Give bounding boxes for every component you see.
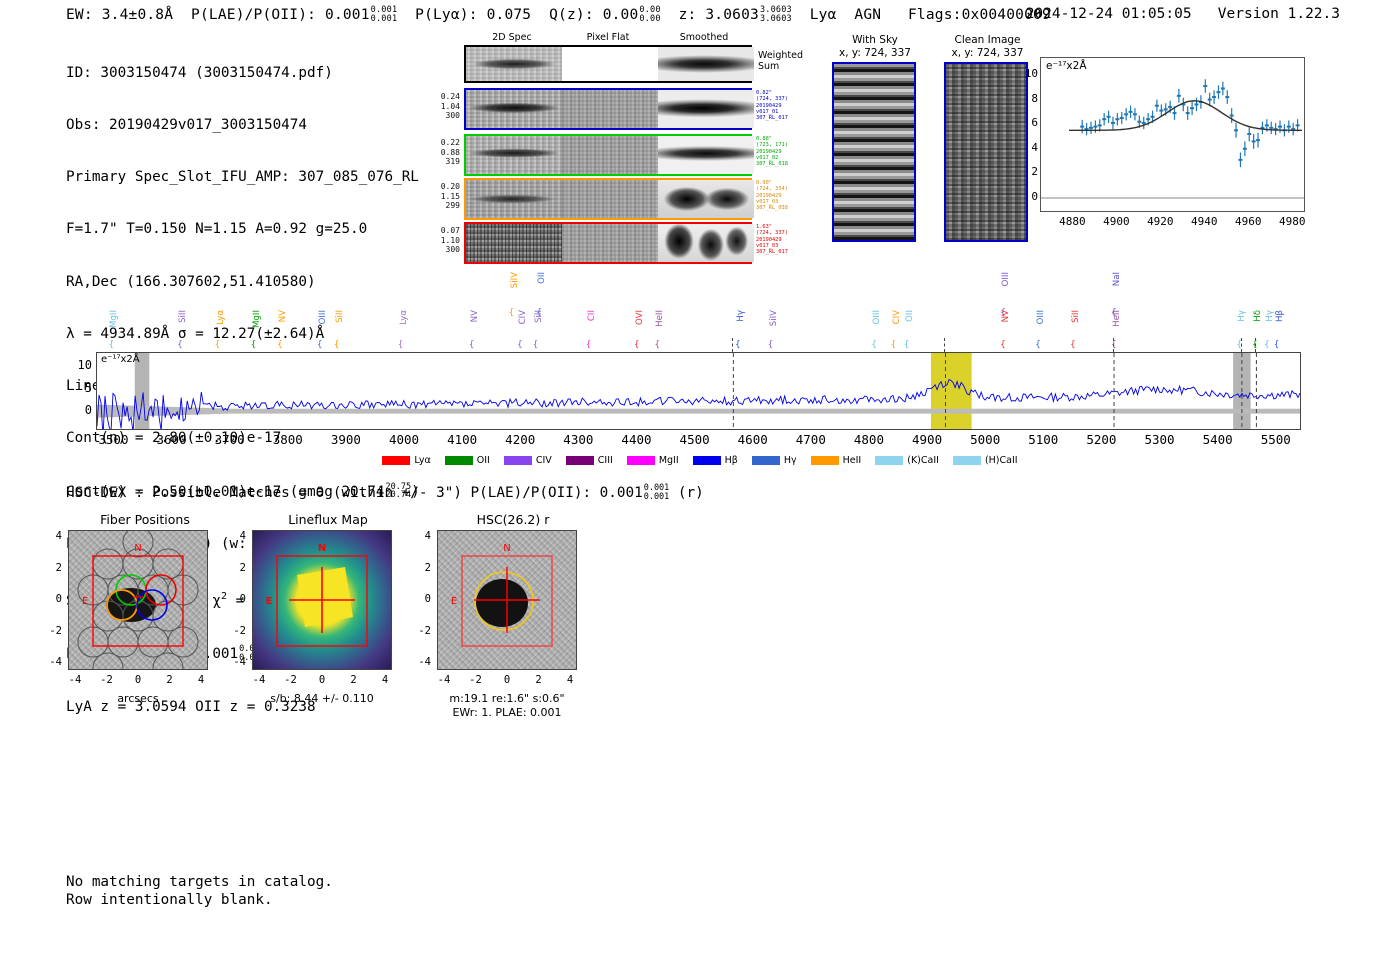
full-spectrum-plot[interactable]: e⁻¹⁷x2Å — [96, 352, 1301, 430]
fiber-row-1-amp: 307_RL_017 — [756, 115, 812, 121]
spectrum-x-tick: 4500 — [680, 432, 710, 447]
fiber-positions-title: Fiber Positions — [60, 512, 230, 527]
legend-swatch-Lyα — [382, 456, 410, 465]
legend-label-HeII: HeII — [843, 455, 862, 466]
spectrum-lower-brace-SiII: { — [177, 340, 183, 350]
spectrum-upper-label-OII: OII — [538, 272, 547, 284]
clean-image-coords: x, y: 724, 337 — [930, 47, 1045, 60]
spectrum-lower-brace-Hβ: { — [1274, 340, 1280, 350]
header-z-label: z: 3.0603 — [679, 7, 759, 23]
header-plae-label: P(LAE)/P(OII): — [191, 7, 316, 23]
fit-y-tick: 6 — [1016, 116, 1038, 129]
fiber-row-4-right-labels: 1.63" (724, 337) 20190429 v017_03 307_RL… — [756, 224, 812, 255]
spectrum-x-tick: 3500 — [98, 432, 128, 447]
fiber-row-1-pixel-flat-image — [562, 90, 658, 128]
lineflux-compass-north: N — [318, 543, 326, 554]
legend-label-OII: OII — [477, 455, 490, 466]
spectrum-lower-label-Lyα: Lyα — [217, 310, 226, 325]
spectrum-lower-brace-MgII: { — [108, 340, 114, 350]
legend-item-CIV: CIV — [504, 455, 552, 466]
fiber-row-2-right-labels: 0.88" (723, 171) 20190429 v017_02 307_RL… — [756, 136, 812, 167]
fiber-row-3-amp: 307_RL_038 — [756, 205, 812, 211]
spectrum-lower-label-NV: NV — [1002, 310, 1011, 322]
spectrum-lower-label-SiII: SiII — [1072, 310, 1081, 323]
fiber-row-1-dist: 1.04 — [420, 102, 460, 112]
fiber-row-4-left-labels: 0.07 1.10 300 — [420, 226, 460, 255]
legend-item-(H)CaII: (H)CaII — [953, 455, 1018, 466]
fiber-row-1-index: 300 — [420, 111, 460, 121]
header-meta: 2024-12-24 01:05:05 Version 1.22.3 — [1026, 6, 1340, 22]
spectrum-x-tick: 3600 — [156, 432, 186, 447]
fiber-row-1-right-labels: 0.82" (724, 337) 20190429 v017_01 307_RL… — [756, 90, 812, 121]
info-observing-conditions: F=1.7" T=0.150 N=1.15 A=0.92 g=25.0 — [66, 221, 420, 238]
spectrum-lower-brace-Lyα: { — [398, 340, 404, 350]
legend-item-HeII: HeII — [811, 455, 862, 466]
legend-swatch-OII — [445, 456, 473, 465]
fiber-row-4-pixel-flat-image — [562, 224, 658, 262]
legend-swatch-(K)CaII — [875, 456, 903, 465]
header-plae-lo: 0.001 — [371, 15, 398, 24]
hsc-r-y-tick: 4 — [411, 530, 431, 542]
fiber-row-4[interactable] — [464, 222, 752, 264]
spectrum-lower-brace-OIII: { — [317, 340, 323, 350]
spectrum-lower-label-OIII: OIII — [319, 310, 328, 324]
legend-label-Lyα: Lyα — [414, 455, 430, 466]
lineflux-map-y-tick: 0 — [226, 593, 246, 605]
with-sky-image[interactable] — [832, 62, 916, 242]
fiber-positions-xlabel: arcsecs — [38, 692, 238, 705]
fiber-row-2-index: 319 — [420, 157, 460, 167]
legend-item-MgII: MgII — [627, 455, 679, 466]
legend-swatch-CIII — [566, 456, 594, 465]
legend-label-Hγ: Hγ — [784, 455, 797, 466]
header-plya: P(Lyα): 0.075 — [415, 7, 531, 23]
spectrum-lower-brace-SiII: { — [533, 340, 539, 350]
spectrum-marker-tick — [1255, 338, 1256, 352]
info-obs: Obs: 20190429v017_3003150474 — [66, 117, 420, 134]
spectrum-upper-label-OIII: OIII — [1002, 272, 1011, 286]
legend-label-CIV: CIV — [536, 455, 552, 466]
header-line-id: Lyα — [810, 7, 837, 23]
spectrum-lower-label-Hγ: Hγ — [1238, 310, 1247, 322]
spectrum-lower-brace-HeII: { — [654, 340, 660, 350]
fiber-positions-x-tick: 0 — [128, 674, 148, 686]
spectrum-marker-tick — [944, 338, 945, 352]
spectrum-lower-label-Hγ: Hγ — [1266, 310, 1275, 322]
legend-swatch-CIV — [504, 456, 532, 465]
col-header-smoothed: Smoothed — [656, 32, 752, 43]
fiber-row-3-2d-spec-image — [466, 180, 562, 218]
spectrum-x-tick: 5100 — [1028, 432, 1058, 447]
fit-x-tick: 4880 — [1052, 215, 1092, 228]
spectrum-lower-brace-CIV: { — [891, 340, 897, 350]
spectrum-legend: LyαOIICIVCIIIMgIIHβHγHeII(K)CaII(H)CaII — [0, 455, 1400, 466]
fiber-compass-east: E — [82, 596, 88, 607]
legend-item-Hβ: Hβ — [693, 455, 738, 466]
fiber-row-4-2d-spec-image — [466, 224, 562, 262]
fiber-row-2[interactable] — [464, 134, 752, 176]
spectrum-lower-brace-OII: { — [904, 340, 910, 350]
weighted-sum-label: Weighted Sum — [758, 50, 803, 72]
fiber-positions-y-tick: -4 — [42, 656, 62, 668]
hsc-r-x-tick: 2 — [529, 674, 549, 686]
spectrum-upper-label-NaI: NaI — [1113, 272, 1122, 286]
hsc-dex-summary: HSC-DEX : Possible Matches = 0 (within +… — [66, 484, 704, 501]
fiber-row-3-index: 299 — [420, 201, 460, 211]
spectrum-x-tick: 4800 — [854, 432, 884, 447]
spectrum-lower-label-NV: NV — [279, 310, 288, 322]
spectrum-line-labels: SiIV{OII{OIII{NaI{MgII{SiII{Lyα{MgII{NV{… — [96, 272, 1301, 352]
spectrum-x-tick: 5500 — [1261, 432, 1291, 447]
spectrum-lower-label-Hγ: Hγ — [737, 310, 746, 322]
fiber-row-2-2d-spec-image — [466, 136, 562, 174]
legend-label-(H)CaII: (H)CaII — [985, 455, 1018, 466]
legend-item-CIII: CIII — [566, 455, 613, 466]
spectrum-upper-brace-SiIV: { — [509, 308, 515, 318]
hsc-r-x-tick: -4 — [434, 674, 454, 686]
fit-data-points — [1080, 79, 1299, 167]
spectrum-lower-brace-OIII: { — [871, 340, 877, 350]
spectrum-lower-brace-OVI: { — [634, 340, 640, 350]
fiber-row-1-left-labels: 0.24 1.04 300 — [420, 92, 460, 121]
fiber-row-3-weight: 0.20 — [420, 182, 460, 192]
lineflux-map-x-tick: -2 — [281, 674, 301, 686]
legend-label-Hβ: Hβ — [725, 455, 738, 466]
footer-note: No matching targets in catalog. Row inte… — [66, 873, 333, 909]
spectrum-lower-brace-NV: { — [277, 340, 283, 350]
lineflux-map-y-tick: 2 — [226, 562, 246, 574]
spectrum-lower-label-OII: OII — [906, 310, 915, 322]
header-timestamp: 2024-12-24 01:05:05 — [1026, 6, 1192, 22]
spectrum-lower-label-HeII: HeII — [656, 310, 665, 327]
fit-plot-svg — [1041, 58, 1304, 211]
header-ew: EW: 3.4±0.8Å — [66, 7, 173, 23]
legend-swatch-HeII — [811, 456, 839, 465]
spectrum-lower-brace-CII: { — [586, 340, 592, 350]
fiber-positions-y-tick: 2 — [42, 562, 62, 574]
legend-label-CIII: CIII — [598, 455, 613, 466]
fiber-positions-y-tick: -2 — [42, 625, 62, 637]
spectrum-x-tick: 4000 — [389, 432, 419, 447]
hsc-r-x-tick: 4 — [560, 674, 580, 686]
fiber-row-4-amp: 307_RL_017 — [756, 249, 812, 255]
spectrum-x-tick: 5300 — [1144, 432, 1174, 447]
weighted-sum-label-line1: Weighted — [758, 50, 803, 61]
header-z-lo: 3.0603 — [760, 15, 792, 24]
spectrum-lower-label-MgII: MgII — [253, 310, 262, 328]
spectrum-gray-bands — [135, 353, 1251, 429]
hsc-r-title: HSC(26.2) r — [428, 512, 598, 527]
spectrum-x-tick: 4700 — [796, 432, 826, 447]
spectrum-error-band — [97, 405, 1300, 418]
fit-y-tick: 10 — [1016, 67, 1038, 80]
info-primary-spec: Primary Spec_Slot_IFU_AMP: 307_085_076_R… — [66, 169, 420, 186]
spectrum-lower-label-HeII: HeII — [1113, 310, 1122, 327]
fiber-positions-x-tick: -2 — [97, 674, 117, 686]
header-plae-value: 0.001 — [325, 7, 370, 23]
spectrum-lower-brace-SiII: { — [334, 340, 340, 350]
spectrum-marker-tick — [732, 338, 733, 352]
spectrum-lower-label-Hδ: Hδ — [1254, 310, 1263, 322]
fiber-row-2-weight: 0.22 — [420, 138, 460, 148]
spectrum-y-tick: 10 — [70, 358, 92, 372]
spectrum-lower-label-Hβ: Hβ — [1276, 310, 1285, 322]
fiber-row-3[interactable] — [464, 178, 752, 220]
spectrum-lower-label-OVI: OVI — [636, 310, 645, 325]
spectrum-x-tick: 3900 — [331, 432, 361, 447]
legend-swatch-(H)CaII — [953, 456, 981, 465]
hsc-r-image[interactable]: N E — [437, 530, 577, 670]
lineflux-map-y-tick: 4 — [226, 530, 246, 542]
spectrum-lower-brace-SiII: { — [1070, 340, 1076, 350]
lineflux-map-x-tick: -4 — [249, 674, 269, 686]
lineflux-map-caption: s/b: 8.44 +/- 0.110 — [222, 692, 422, 705]
spectrum-marker-tick — [1241, 338, 1242, 352]
lineflux-map-overlay: N E — [253, 531, 391, 669]
emission-line-fit-plot[interactable]: e⁻¹⁷x2Å — [1040, 57, 1305, 212]
spectrum-x-tick: 3800 — [273, 432, 303, 447]
fiber-row-4-weight: 0.07 — [420, 226, 460, 236]
fit-x-tick: 4920 — [1140, 215, 1180, 228]
spectrum-x-tick: 5000 — [970, 432, 1000, 447]
fiber-positions-x-tick: 2 — [160, 674, 180, 686]
spectrum-lower-label-SiII: SiII — [336, 310, 345, 323]
fiber-row-3-dist: 1.15 — [420, 192, 460, 202]
spectrum-lower-brace-OIII: { — [1035, 340, 1041, 350]
hsc-r-overlay: N E — [438, 531, 576, 669]
fit-y-tick: 4 — [1016, 141, 1038, 154]
spectrum-x-axis-ticks: 3500360037003800390040004100420043004400… — [96, 432, 1301, 450]
spectrum-y-tick: 0 — [70, 403, 92, 417]
spectrum-lower-brace-Lyα: { — [215, 340, 221, 350]
fiber-positions-overlay: N E — [69, 531, 207, 669]
spectrum-x-tick: 5200 — [1086, 432, 1116, 447]
fiber-compass-north: N — [134, 543, 141, 554]
fiber-row-3-right-labels: 0.90" (724, 354) 20190429 v017_03 307_RL… — [756, 180, 812, 211]
spectrum-lower-brace-CIV: { — [517, 340, 523, 350]
weighted-sum-row — [464, 45, 752, 83]
lineflux-bright-core — [297, 567, 353, 627]
spectrum-y-tick: 5 — [70, 381, 92, 395]
fiber-row-1-weight: 0.24 — [420, 92, 460, 102]
lineflux-map-y-tick: -4 — [226, 656, 246, 668]
fiber-positions-y-tick: 0 — [42, 593, 62, 605]
fiber-row-2-pixel-flat-image — [562, 136, 658, 174]
fit-x-tick: 4940 — [1184, 215, 1224, 228]
fit-x-tick: 4900 — [1096, 215, 1136, 228]
hsc-summary-pre: HSC-DEX : Possible Matches = 0 (within +… — [66, 485, 643, 501]
hsc-r-x-tick: -2 — [466, 674, 486, 686]
hsc-r-y-tick: -2 — [411, 625, 431, 637]
hsc-summary-lo: 0.001 — [644, 493, 670, 502]
fiber-row-2-amp: 307_RL_018 — [756, 161, 812, 167]
footer-line-2: Row intentionally blank. — [66, 891, 333, 909]
fiber-positions-y-tick: 4 — [42, 530, 62, 542]
legend-swatch-MgII — [627, 456, 655, 465]
hsc-compass-north: N — [503, 543, 510, 554]
spectrum-x-tick: 4100 — [447, 432, 477, 447]
spectrum-lower-label-OIII: OIII — [873, 310, 882, 324]
fit-y-tick: 8 — [1016, 92, 1038, 105]
legend-item-(K)CaII: (K)CaII — [875, 455, 939, 466]
spectrum-lower-brace-Hγ: { — [1264, 340, 1270, 350]
header-qz-lo: 0.00 — [639, 15, 660, 24]
fiber-row-3-pixel-flat-image — [562, 180, 658, 218]
spectrum-lower-brace-NV: { — [469, 340, 475, 350]
hsc-compass-east: E — [451, 596, 457, 607]
spectrum-x-tick: 5400 — [1203, 432, 1233, 447]
header-version: Version 1.22.3 — [1218, 6, 1340, 22]
hsc-r-y-tick: 2 — [411, 562, 431, 574]
hsc-r-caption-2: EWr: 1. PLAE: 0.001 — [407, 706, 607, 719]
hsc-r-x-tick: 0 — [497, 674, 517, 686]
hsc-source-blob — [476, 579, 528, 627]
spectrum-x-tick: 4400 — [621, 432, 651, 447]
spectrum-x-tick: 4200 — [505, 432, 535, 447]
spectrum-flux-line — [97, 380, 1300, 430]
hsc-r-caption: m:19.1 re:1.6" s:0.6" — [407, 692, 607, 705]
spectrum-x-tick: 4300 — [563, 432, 593, 447]
fit-y-tick: 2 — [1016, 165, 1038, 178]
legend-label-(K)CaII: (K)CaII — [907, 455, 939, 466]
lineflux-map-y-tick: -2 — [226, 625, 246, 637]
with-sky-title: With Sky — [820, 34, 930, 47]
spectrum-lower-brace-MgII: { — [251, 340, 257, 350]
lineflux-map-x-tick: 0 — [312, 674, 332, 686]
spectrum-marker-tick — [1113, 338, 1114, 352]
hsc-r-y-tick: -4 — [411, 656, 431, 668]
spectrum-lower-brace-SiIV: { — [768, 340, 774, 350]
spectrum-upper-label-SiIV: SiIV — [511, 272, 520, 288]
fiber-row-2-dist: 0.88 — [420, 148, 460, 158]
legend-swatch-Hβ — [693, 456, 721, 465]
clean-image-title: Clean Image — [930, 34, 1045, 47]
weighted-sum-label-line2: Sum — [758, 61, 803, 72]
spectrum-x-tick: 4600 — [738, 432, 768, 447]
legend-label-MgII: MgII — [659, 455, 679, 466]
fiber-row-4-index: 300 — [420, 245, 460, 255]
hsc-summary-post: (r) — [669, 485, 703, 501]
footer-line-1: No matching targets in catalog. — [66, 873, 333, 891]
spectrum-lower-label-CII: CII — [588, 310, 597, 321]
weighted-sum-pixel-flat-image — [562, 47, 658, 81]
col-header-2d-spec: 2D Spec — [464, 32, 560, 43]
fiber-positions-x-tick: 4 — [191, 674, 211, 686]
fiber-positions-image[interactable]: N E — [68, 530, 208, 670]
weighted-sum-smoothed-image — [658, 47, 754, 81]
weighted-sum-2d-spec-image — [466, 47, 562, 81]
legend-item-Lyα: Lyα — [382, 455, 430, 466]
spectrum-lower-brace-Hγ: { — [735, 340, 741, 350]
fiber-row-3-smoothed-image — [658, 180, 754, 218]
header-summary-line: EW: 3.4±0.8Å P(LAE)/P(OII): 0.0010.0010.… — [66, 6, 1051, 23]
spectrum-lower-label-Lyα: Lyα — [400, 310, 409, 325]
fiber-row-4-smoothed-image — [658, 224, 754, 262]
spectrum-units-label: e⁻¹⁷x2Å — [101, 354, 140, 365]
fiber-row-2-smoothed-image — [658, 136, 754, 174]
header-qz-label: Q(z): 0.00 — [549, 7, 638, 23]
fiber-row-1-smoothed-image — [658, 90, 754, 128]
fit-y-tick: 0 — [1016, 190, 1038, 203]
fit-plot-units-label: e⁻¹⁷x2Å — [1046, 60, 1087, 72]
fiber-positions-x-tick: -4 — [65, 674, 85, 686]
two-d-spectra-panel: 2D Spec Pixel Flat Smoothed Weighted Sum… — [420, 32, 790, 257]
spectrum-lower-label-MgII: MgII — [110, 310, 119, 328]
fit-x-tick: 4960 — [1228, 215, 1268, 228]
legend-item-OII: OII — [445, 455, 490, 466]
spectrum-lower-label-CIV: CIV — [893, 310, 902, 324]
with-sky-coords: x, y: 724, 337 — [820, 47, 930, 60]
fiber-row-3-left-labels: 0.20 1.15 299 — [420, 182, 460, 211]
spectrum-lower-label-NV: NV — [471, 310, 480, 322]
spectrum-svg — [97, 353, 1300, 429]
lineflux-compass-east: E — [266, 596, 273, 607]
lineflux-map-x-tick: 2 — [344, 674, 364, 686]
lineflux-map-title: Lineflux Map — [243, 512, 413, 527]
header-classification: AGN — [854, 7, 881, 23]
col-header-pixel-flat: Pixel Flat — [560, 32, 656, 43]
spectrum-lower-label-OIII: OIII — [1037, 310, 1046, 324]
hsc-r-y-tick: 0 — [411, 593, 431, 605]
fiber-row-4-dist: 1.10 — [420, 236, 460, 246]
lineflux-map-image[interactable]: N E — [252, 530, 392, 670]
fiber-row-1[interactable] — [464, 88, 752, 130]
spectrum-lower-label-SiII: SiII — [179, 310, 188, 323]
spectrum-lower-label-SiII: SiII — [535, 310, 544, 323]
spectrum-lower-brace-NV: { — [1000, 340, 1006, 350]
spectrum-x-tick: 4900 — [912, 432, 942, 447]
spectrum-lower-label-CIV: CIV — [519, 310, 528, 324]
spectrum-x-tick: 3700 — [215, 432, 245, 447]
fit-x-tick: 4980 — [1272, 215, 1312, 228]
spectrum-lower-label-SiIV: SiIV — [770, 310, 779, 326]
fiber-row-1-2d-spec-image — [466, 90, 562, 128]
info-id: ID: 3003150474 (3003150474.pdf) — [66, 65, 420, 82]
legend-swatch-Hγ — [752, 456, 780, 465]
legend-item-Hγ: Hγ — [752, 455, 797, 466]
lineflux-map-x-tick: 4 — [375, 674, 395, 686]
fiber-row-2-left-labels: 0.22 0.88 319 — [420, 138, 460, 167]
